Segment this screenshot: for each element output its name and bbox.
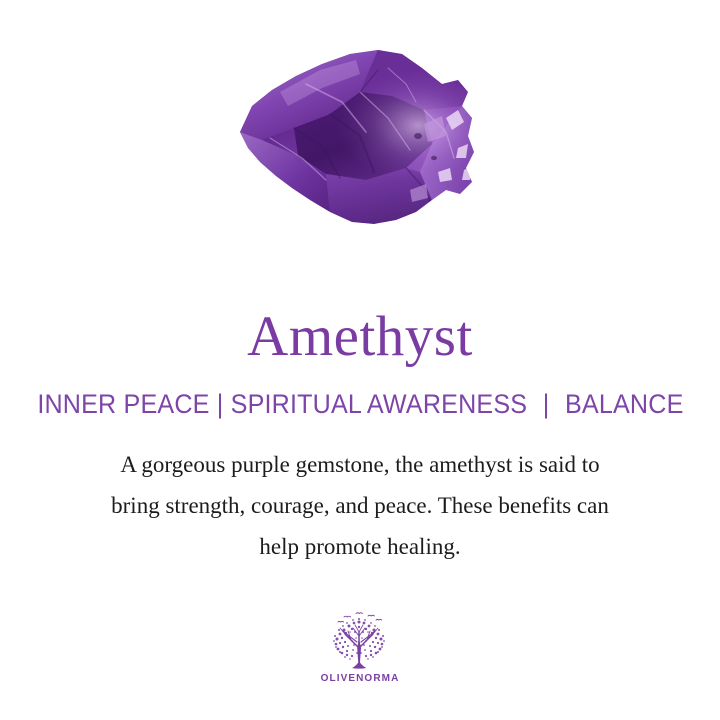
keyword-line: INNER PEACE | SPIRITUAL AWARENESS | BALA… — [37, 365, 683, 418]
description-line-3: help promote healing. — [50, 526, 670, 567]
keyword-separator-2: | — [534, 389, 557, 419]
brand-logo: OLIVENORMA — [0, 610, 720, 684]
keyword-spiritual-awareness: SPIRITUAL AWARENESS — [230, 389, 527, 419]
description-line-1: A gorgeous purple gemstone, the amethyst… — [50, 444, 670, 485]
amethyst-crystal-icon — [210, 40, 510, 240]
amethyst-info-card: Amethyst INNER PEACE | SPIRITUAL AWARENE… — [0, 0, 720, 720]
keyword-separator-1: | — [216, 389, 223, 419]
description-text: A gorgeous purple gemstone, the amethyst… — [50, 418, 670, 567]
tree-of-life-icon — [324, 610, 396, 672]
page-title: Amethyst — [247, 280, 473, 365]
keyword-inner-peace: INNER PEACE — [37, 389, 209, 419]
brand-wordmark: OLIVENORMA — [321, 674, 400, 684]
description-line-2: bring strength, courage, and peace. Thes… — [50, 485, 670, 526]
hero-image-container — [0, 0, 720, 280]
keyword-balance: BALANCE — [565, 389, 684, 419]
